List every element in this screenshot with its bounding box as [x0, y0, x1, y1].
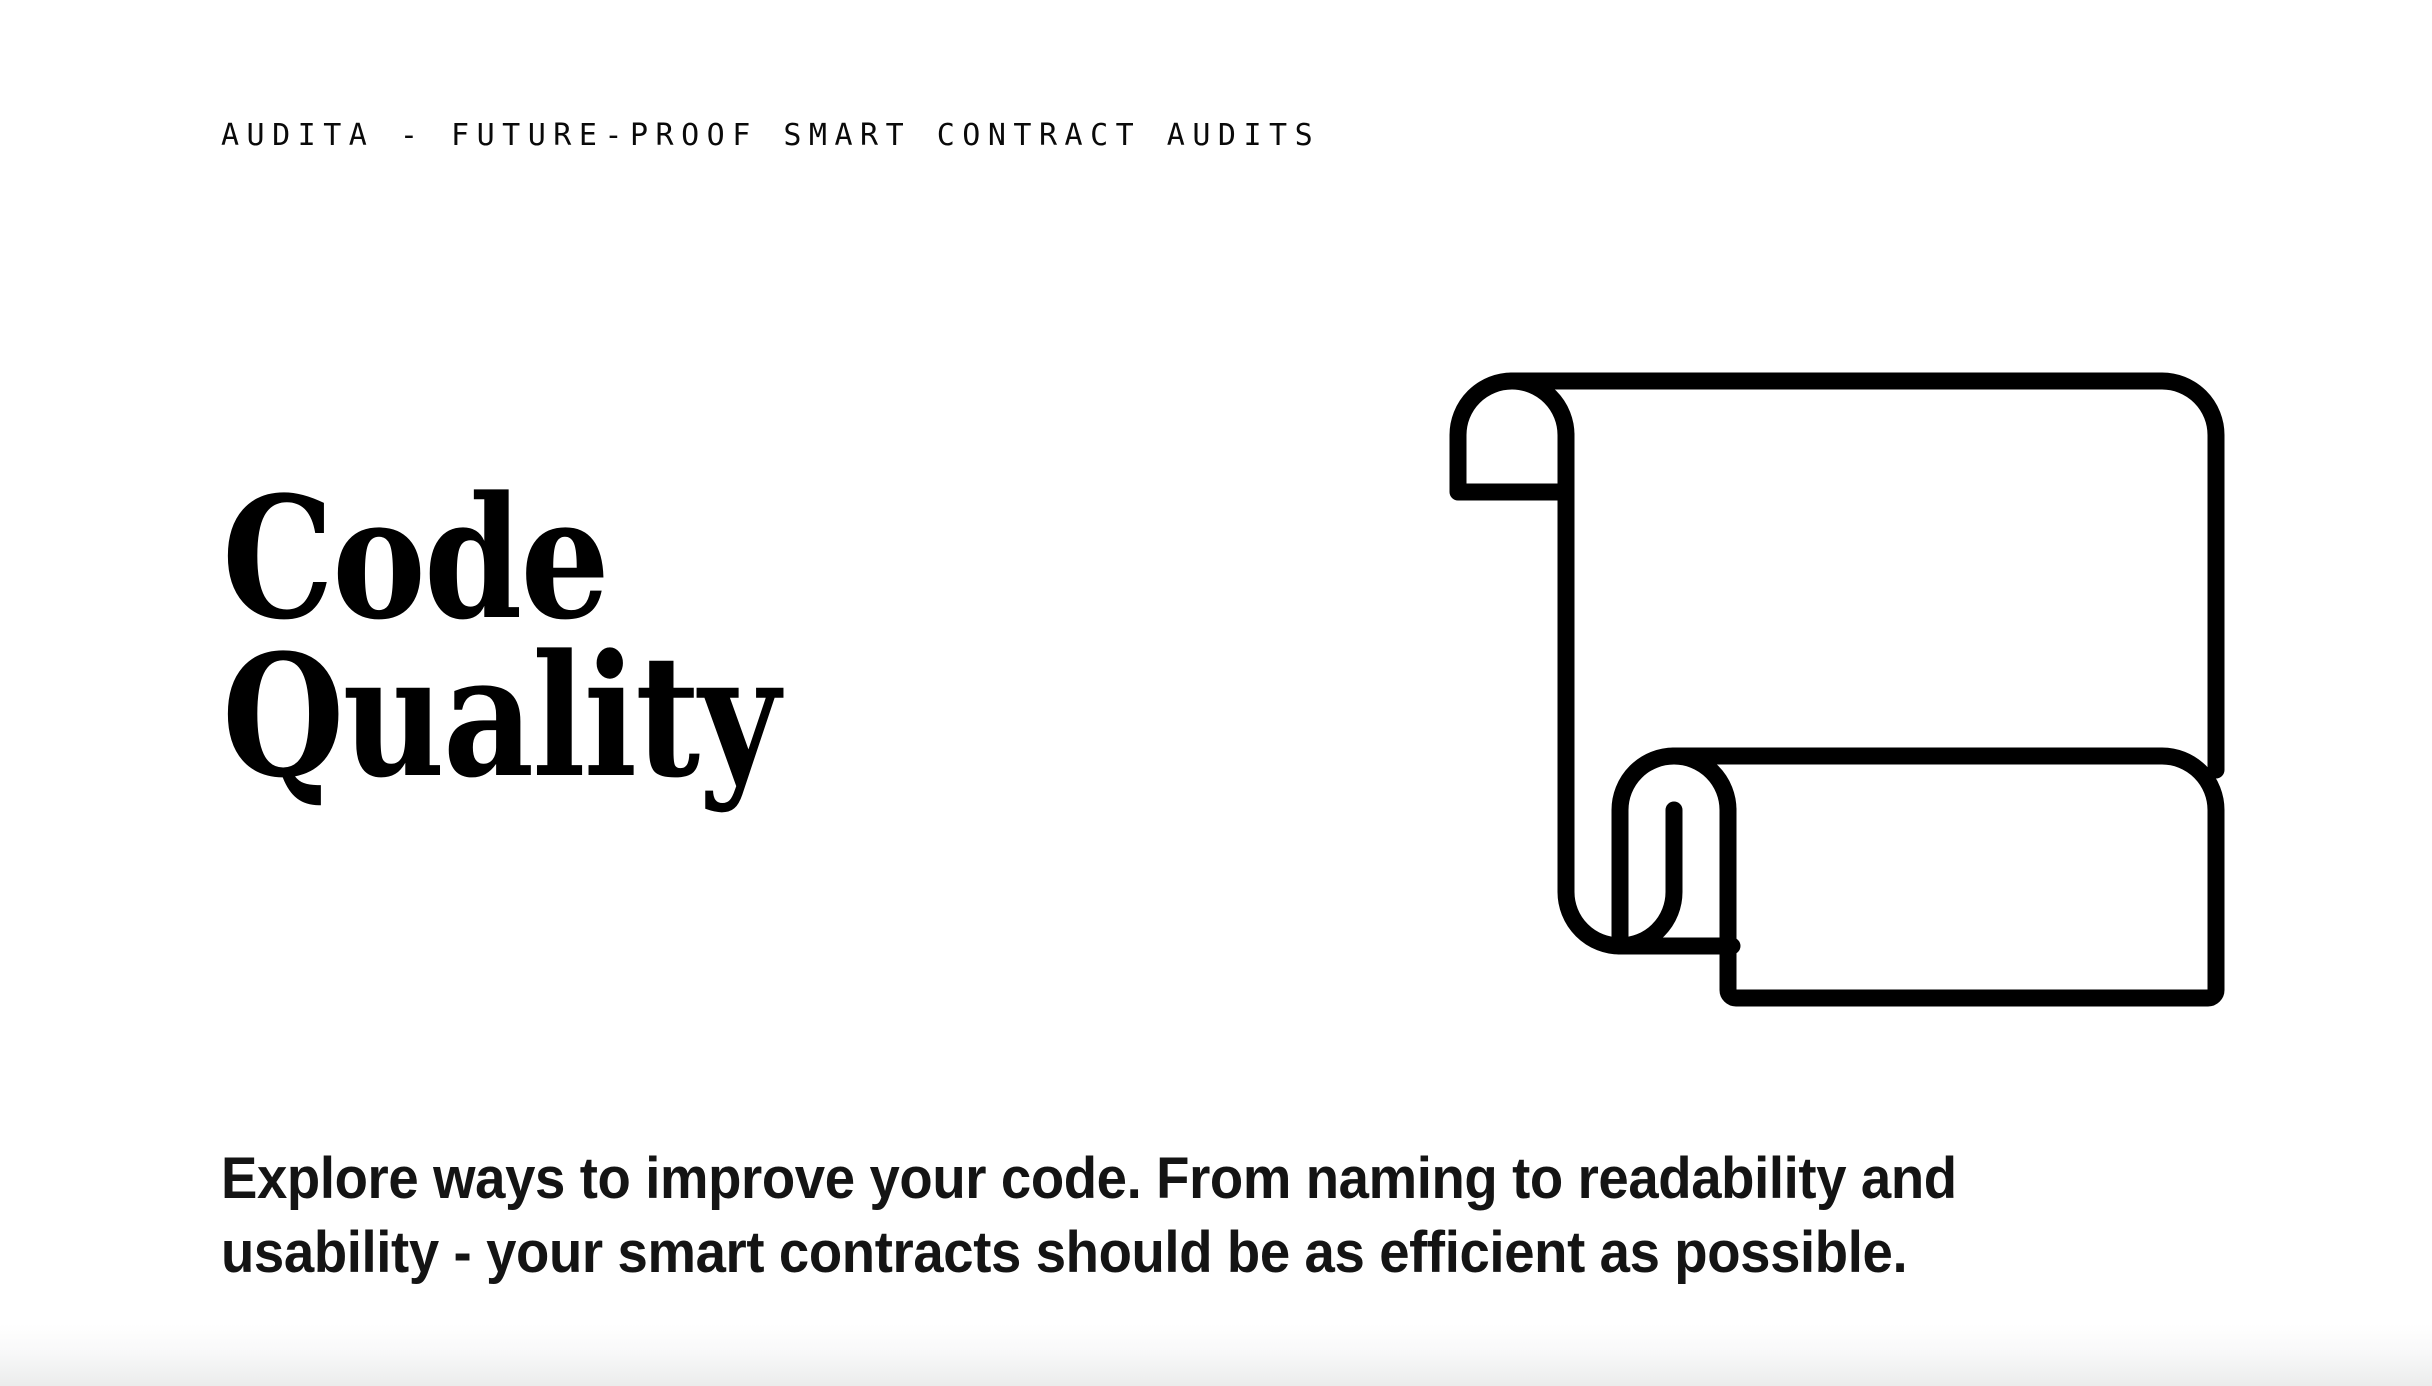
- lower-sheet-outline: [1674, 756, 2216, 998]
- scroll-document-icon: [1430, 340, 2250, 1040]
- hero-description: Explore ways to improve your code. From …: [221, 1142, 2110, 1290]
- scroll-document-svg: [1430, 340, 2250, 1040]
- upper-curl: [1458, 381, 1566, 492]
- page-title: Code Quality: [222, 480, 1222, 796]
- headline-line-1: Code: [222, 480, 1152, 638]
- upper-sheet-top-right-edge: [1512, 381, 2216, 770]
- eyebrow-label: AUDITA - FUTURE-PROOF SMART CONTRACT AUD…: [221, 118, 1320, 154]
- section-bottom-fade: [0, 1324, 2432, 1386]
- headline-line-2: Quality: [222, 638, 1152, 796]
- hero-section: AUDITA - FUTURE-PROOF SMART CONTRACT AUD…: [0, 0, 2432, 1386]
